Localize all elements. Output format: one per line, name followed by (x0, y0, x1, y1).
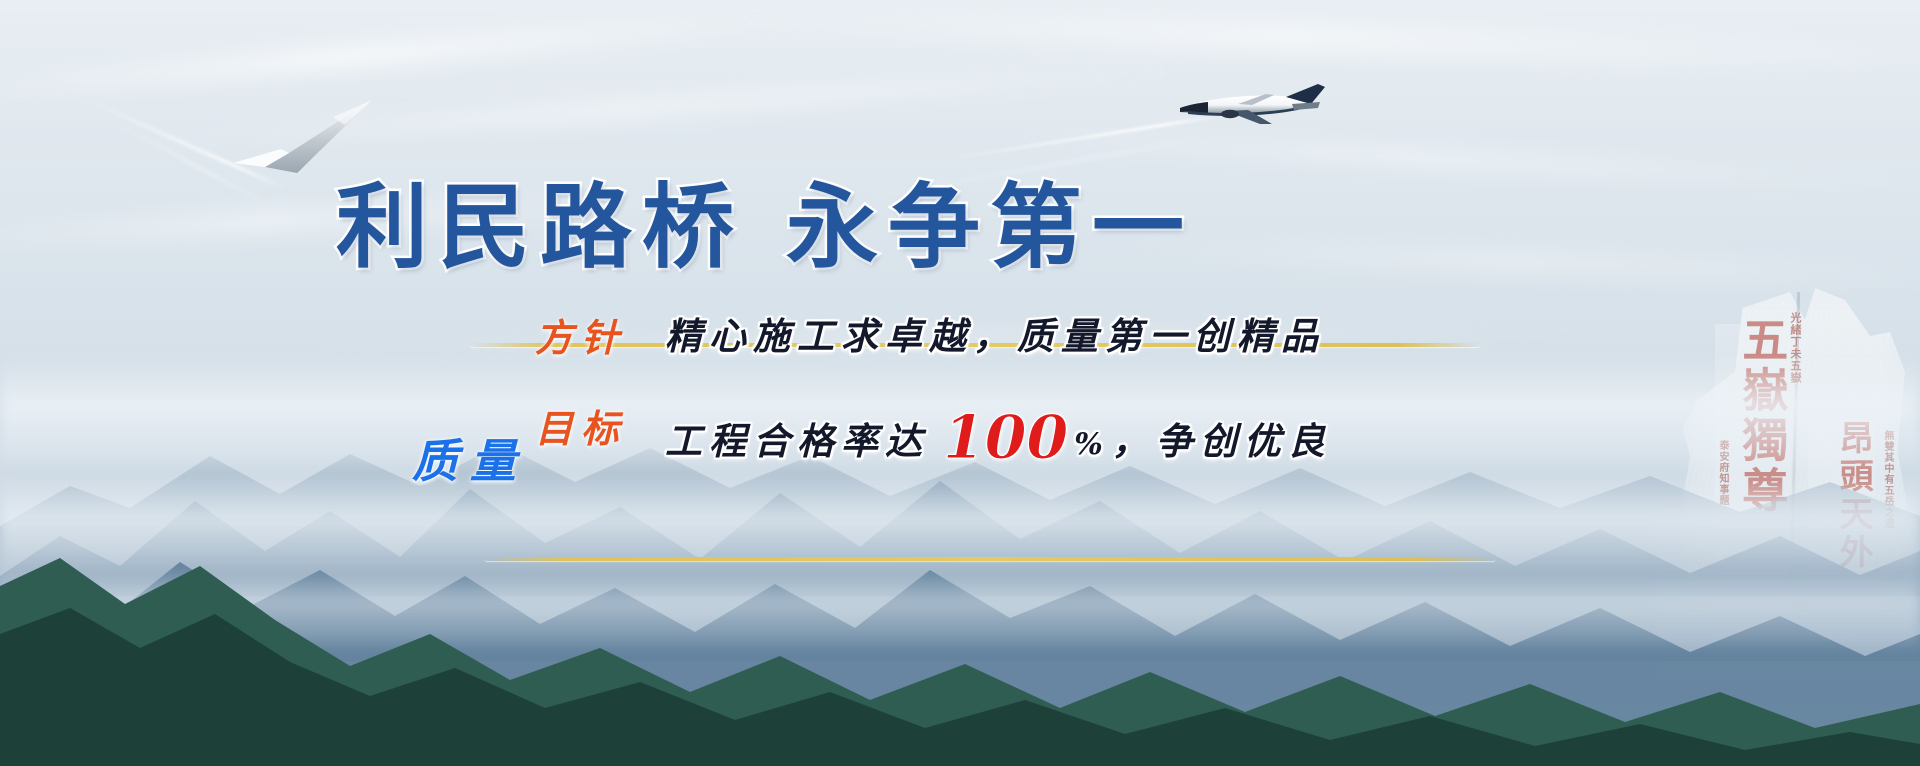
mountain-range-foreground (0, 516, 1920, 766)
airplane-icon (1168, 82, 1328, 142)
paper-plane-icon (225, 95, 375, 180)
hero-banner: 五嶽獨尊 昂頭天外 光緒丁未五嶽 泰安府知事題 無雙其中有五岳之遊 (0, 0, 1920, 766)
